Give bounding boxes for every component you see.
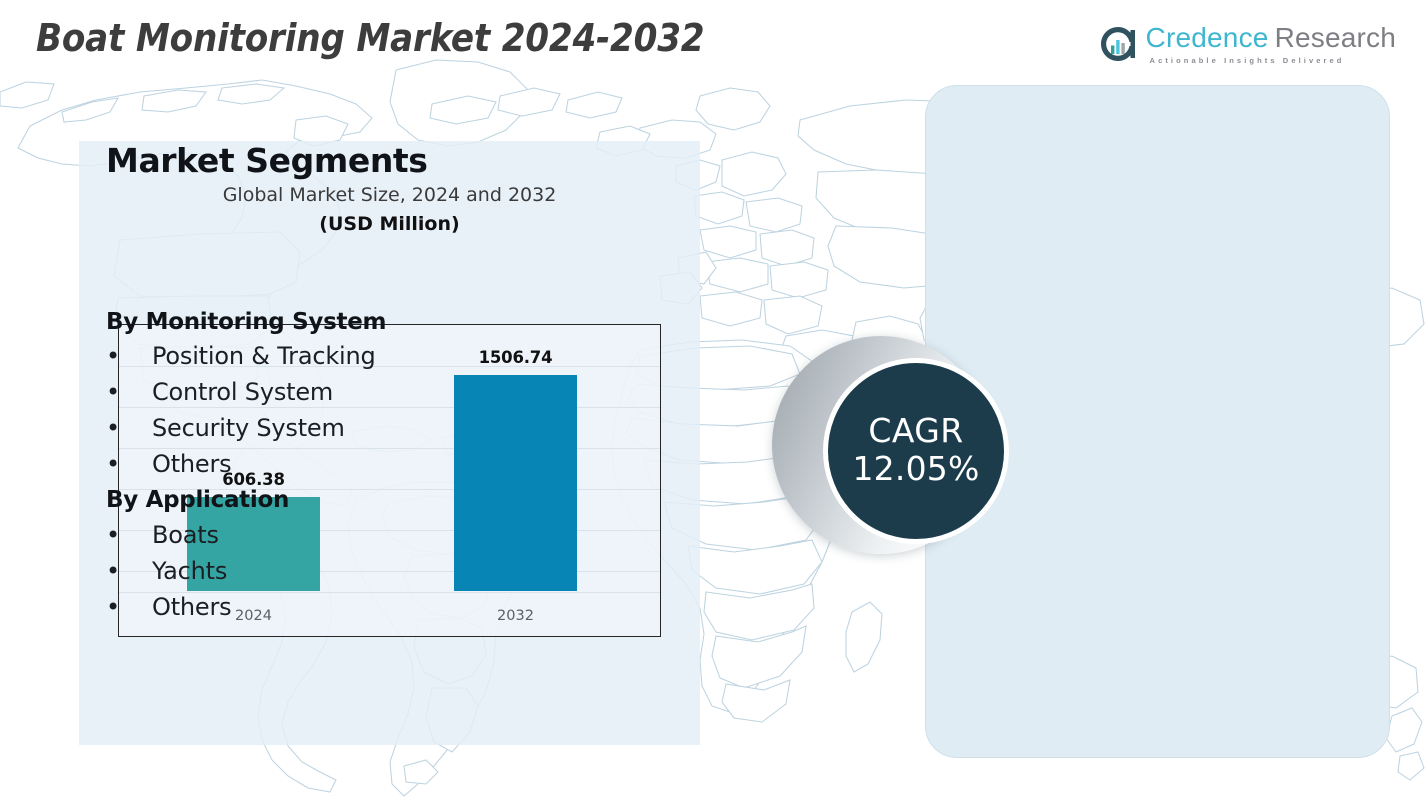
segment-item-security-system: •Security System (106, 414, 345, 442)
cagr-badge: CAGR 12.05% (770, 330, 1020, 580)
cagr-circle: CAGR 12.05% (823, 358, 1009, 544)
page-title: Boat Monitoring Market 2024-2032 (36, 16, 704, 60)
segment-item-position-tracking: •Position & Tracking (106, 342, 376, 370)
segment-item-yachts: •Yachts (106, 557, 227, 585)
logo-tagline: Actionable Insights Delivered (1150, 57, 1396, 65)
bullet-icon: • (106, 521, 152, 549)
logo-name-primary: Credence (1146, 22, 1269, 53)
bar-value-2032: 1506.74 (479, 348, 553, 367)
chart-subtitle: (USD Million) (79, 213, 700, 235)
segment-heading-monitoring-system: By Monitoring System (106, 309, 386, 335)
bullet-icon: • (106, 414, 152, 442)
segment-item-label: Others (152, 593, 231, 621)
bullet-icon: • (106, 557, 152, 585)
segment-item-label: Security System (152, 414, 345, 442)
chart-title: Global Market Size, 2024 and 2032 (79, 184, 700, 206)
bar-group-2032: 1506.74 (454, 348, 577, 591)
segments-title: Market Segments (106, 141, 428, 180)
bullet-icon: • (106, 593, 152, 621)
segment-heading-application: By Application (106, 487, 289, 513)
axis-label-2032: 2032 (454, 608, 577, 624)
segment-item-label: Position & Tracking (152, 342, 376, 370)
brand-logo: CredenceResearch Actionable Insights Del… (1098, 24, 1396, 65)
segment-item-label: Control System (152, 378, 333, 406)
segment-item-label: Boats (152, 521, 219, 549)
segment-item-control-system: •Control System (106, 378, 333, 406)
cagr-value: 12.05% (852, 449, 979, 489)
bar-rect-2032 (454, 375, 577, 591)
bullet-icon: • (106, 378, 152, 406)
segment-item-application-others: •Others (106, 593, 231, 621)
bar-chart-circle-icon (1098, 24, 1138, 64)
bullet-icon: • (106, 342, 152, 370)
segment-item-boats: •Boats (106, 521, 219, 549)
bullet-icon: • (106, 450, 152, 478)
logo-name-secondary: Research (1275, 22, 1396, 53)
logo-text-block: CredenceResearch Actionable Insights Del… (1146, 24, 1396, 65)
market-size-panel: Global Market Size, 2024 and 2032 (USD M… (79, 141, 700, 745)
cagr-label: CAGR (868, 413, 963, 449)
segment-item-monitoring-others: •Others (106, 450, 231, 478)
logo-wordmark: CredenceResearch (1146, 24, 1396, 52)
bar-chart: 606.38 1506.74 2024 2032 (118, 324, 661, 637)
segment-item-label: Others (152, 450, 231, 478)
segment-item-label: Yachts (152, 557, 227, 585)
